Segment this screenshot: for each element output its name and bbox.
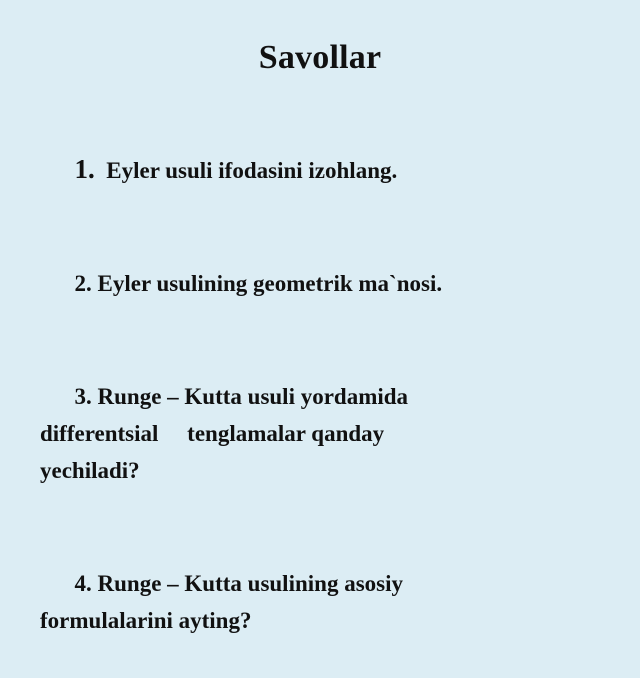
question-text: Eyler usulining geometrik ma`nosi. — [98, 271, 443, 296]
question-text: Eyler usuli ifodasini izohlang. — [106, 158, 397, 183]
question-number-space — [95, 158, 107, 183]
question-inline-gap — [158, 421, 187, 446]
question-number: 3. — [75, 384, 92, 409]
list-item: 4. Runge – Kutta usulining asosiy formul… — [40, 528, 486, 676]
list-item: 1. Eyler usuli ifodasini izohlang. — [40, 114, 486, 226]
page-title: Savollar — [0, 38, 640, 79]
list-item: 3. Runge – Kutta usuli yordamida differe… — [40, 341, 486, 526]
list-item: 2. Eyler usulining geometrik ma`nosi. — [40, 228, 486, 339]
question-number: 4. — [75, 571, 92, 596]
question-number: 1. — [75, 154, 95, 184]
questions-list: 1. Eyler usuli ifodasini izohlang. 2. Ey… — [40, 114, 486, 678]
slide-canvas: Savollar 1. Eyler usuli ifodasini izohla… — [0, 0, 640, 480]
question-number: 2. — [75, 271, 92, 296]
